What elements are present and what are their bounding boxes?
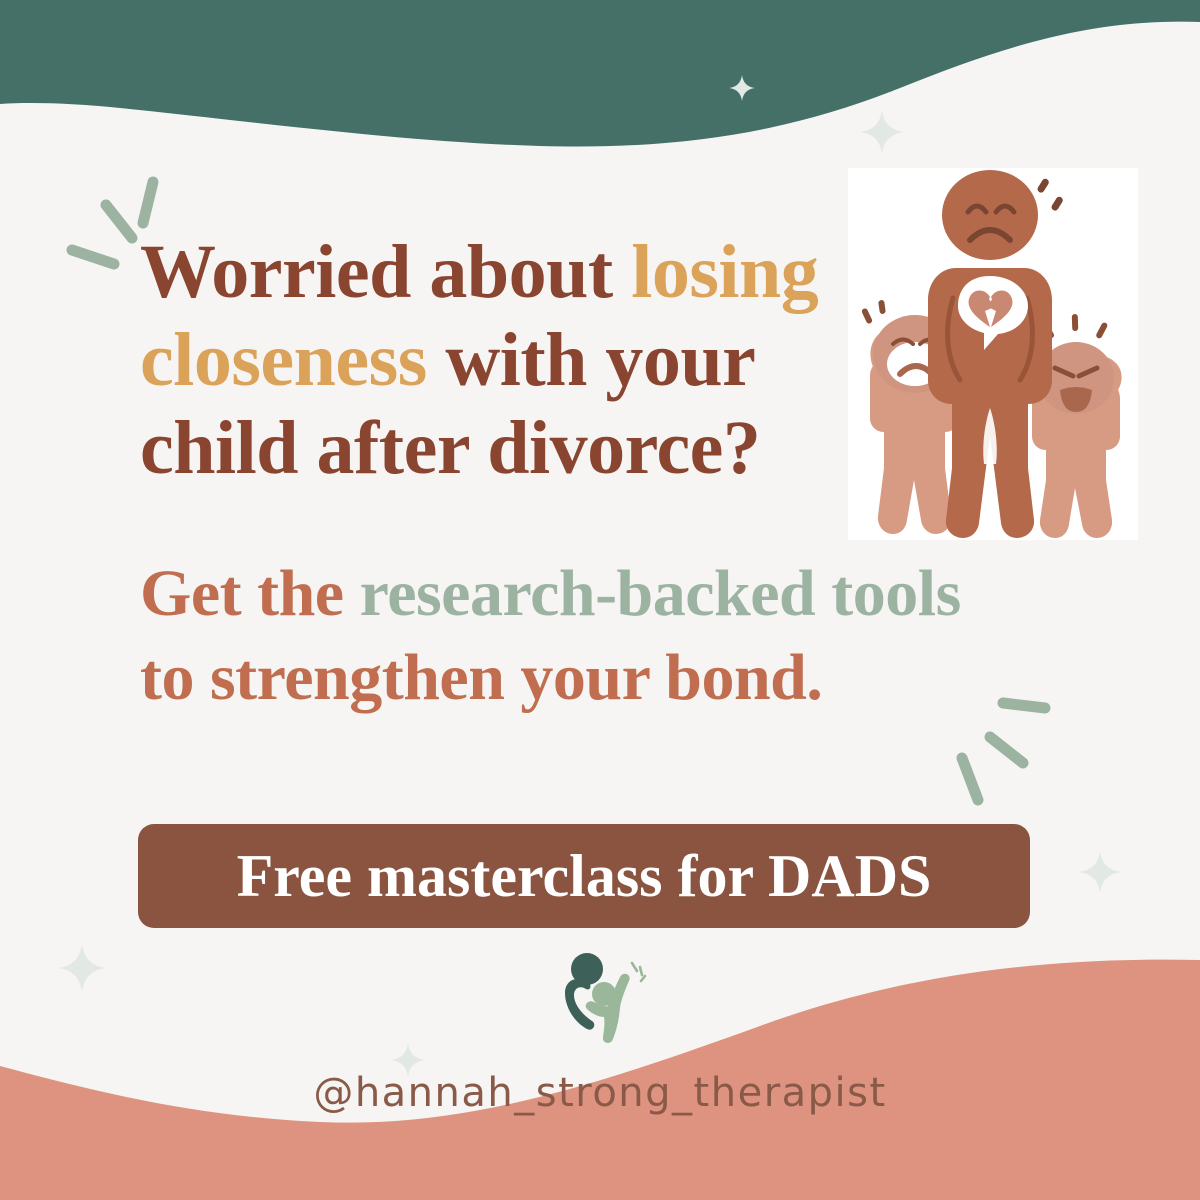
subhead-segment-highlight: research-backed tools: [360, 557, 961, 630]
instagram-handle: @hannah_strong_therapist: [0, 1070, 1200, 1116]
sparkle-icon: [58, 944, 106, 992]
sparkle-icon: [729, 75, 755, 101]
headline-segment-1: Worried about: [140, 230, 631, 314]
sparkle-icon: [860, 110, 904, 154]
subheadline: Get the research-backed tools to strengt…: [140, 552, 980, 720]
parent-child-embrace-logo: [545, 945, 655, 1055]
social-post-canvas: Worried about losing closeness with your…: [0, 0, 1200, 1200]
subhead-segment-3: to strengthen your bond.: [140, 641, 822, 714]
sparkle-icon: [1079, 851, 1121, 893]
page-title: Worried about losing closeness with your…: [140, 228, 880, 492]
subhead-segment-1: Get the: [140, 557, 360, 630]
cta-button-label: Free masterclass for DADS: [237, 846, 932, 906]
illustration-distressed-family: [848, 168, 1138, 540]
free-masterclass-button[interactable]: Free masterclass for DADS: [138, 824, 1030, 928]
adult-figure: [928, 170, 1064, 538]
